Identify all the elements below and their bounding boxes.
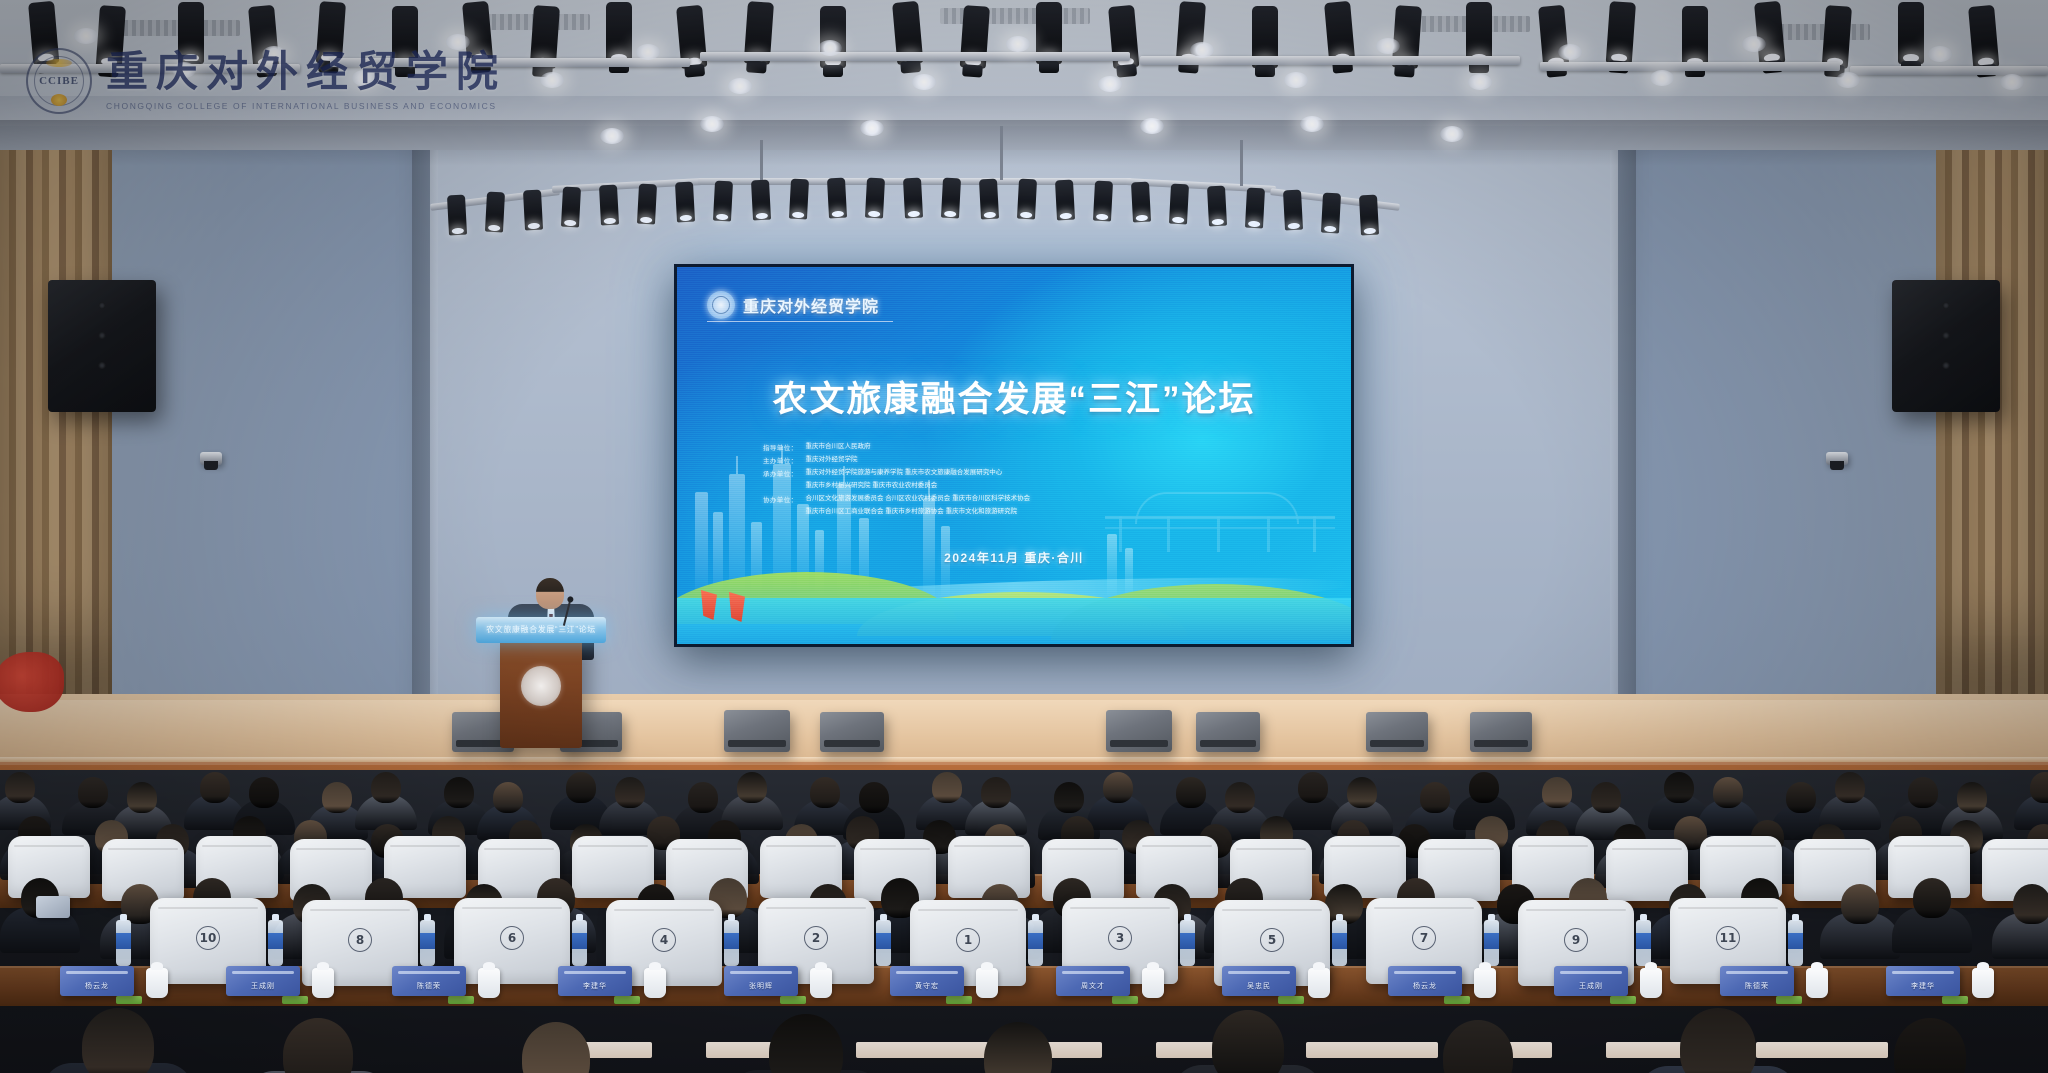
podium-lit-nameplate: 农文旅康融合发展“三江”论坛 <box>476 617 606 643</box>
audience-phone-screen <box>36 896 70 918</box>
water-bottle-icon <box>1636 920 1651 966</box>
audience-person-head <box>1443 1020 1513 1073</box>
audience-person-head <box>493 782 523 813</box>
stage-light-icon <box>637 184 657 225</box>
stage-light-icon <box>1207 186 1227 227</box>
stage-light-icon <box>1055 180 1075 221</box>
audience-person-head <box>1894 1018 1966 1073</box>
water-bottle-icon <box>876 920 891 966</box>
stage-light-icon <box>1321 193 1341 234</box>
speaker-driver <box>1943 362 1950 369</box>
chair-seam <box>1424 848 1495 850</box>
tea-cup-icon <box>644 968 666 998</box>
audience-person-head <box>769 1014 843 1073</box>
curtain-right <box>1936 150 2048 695</box>
name-placard-icon: 吴忠民 <box>1222 966 1296 996</box>
chair-number-badge: 2 <box>804 926 828 950</box>
audience-person-head <box>1713 777 1743 808</box>
stage-monitor-speaker <box>1366 712 1428 752</box>
audience-person-head <box>1103 772 1133 803</box>
bottle-label <box>572 933 587 949</box>
audience-person-head <box>78 777 108 808</box>
downlight-icon <box>1300 116 1324 132</box>
placard-name-text: 杨云龙 <box>60 981 134 991</box>
stage-light-lamp <box>564 220 576 227</box>
placard-name-text: 李建华 <box>558 981 632 991</box>
downlight-icon <box>1558 44 1582 60</box>
downlight-icon <box>1006 36 1030 52</box>
chair-seam <box>766 907 866 909</box>
chair-seam <box>1526 909 1626 911</box>
led-presentation-screen: 重庆对外经贸学院 农文旅康融合发展“三江”论坛 指导单位：重庆市合川区人民政府主… <box>674 264 1354 647</box>
tea-cup-icon <box>1806 968 1828 998</box>
downlight-icon <box>636 44 660 60</box>
bottle-label <box>1636 933 1651 949</box>
stage-light-icon <box>1017 179 1037 220</box>
bottle-label <box>268 933 283 949</box>
chair-seam <box>672 848 743 850</box>
speaker-person-head <box>536 578 564 609</box>
stage-light-lamp <box>908 211 920 218</box>
ceiling-shadow <box>0 120 2048 166</box>
placard-header-line <box>232 971 294 974</box>
stage-light-icon <box>865 178 885 219</box>
desk-paper <box>1756 1042 1888 1058</box>
tea-cup-icon <box>1142 968 1164 998</box>
speaker-driver <box>1943 302 1950 309</box>
stage-light-icon <box>827 178 847 219</box>
stage-light-lamp <box>488 225 500 232</box>
downlight-icon <box>1284 72 1308 88</box>
water-bottle-icon <box>724 920 739 966</box>
downlight-icon <box>2000 74 2024 90</box>
chair-seam <box>1518 845 1589 847</box>
stage-light-icon <box>599 185 619 226</box>
downlight-icon <box>700 116 724 132</box>
chair-seam <box>1142 845 1213 847</box>
audience-person-head <box>932 772 962 803</box>
green-desk-item <box>448 996 474 1004</box>
downlight-icon <box>1190 42 1214 58</box>
audience-person-head <box>1420 782 1450 813</box>
stage-light-icon <box>903 178 923 219</box>
stage-light-icon <box>1754 1 1785 65</box>
stage-light-icon <box>1466 2 1492 64</box>
stage-light-lamp <box>1060 213 1072 220</box>
chair-seam <box>614 909 714 911</box>
name-placard-icon: 李建华 <box>1886 966 1960 996</box>
bottle-label <box>116 933 131 949</box>
downlight-icon <box>728 78 752 94</box>
chair-seam <box>954 845 1025 847</box>
green-desk-item <box>1942 996 1968 1004</box>
chair-seam <box>1222 909 1322 911</box>
audience-person-head <box>1054 782 1084 813</box>
audience-person-head <box>82 1008 154 1073</box>
stage-light-lamp <box>452 228 464 235</box>
placard-header-line <box>1560 971 1622 974</box>
downlight-icon <box>1140 118 1164 134</box>
chair-number-badge: 9 <box>1564 928 1588 952</box>
chair-number-badge: 3 <box>1108 926 1132 950</box>
watermark-text-block: 重庆对外经贸学院 CHONGQING COLLEGE OF INTERNATIO… <box>106 52 506 111</box>
seal-top-ornament <box>46 59 72 67</box>
chair-seam <box>202 845 273 847</box>
led-scanline-overlay <box>677 267 1351 644</box>
stage-light-icon <box>1283 190 1303 231</box>
stage-light-lamp <box>680 215 692 222</box>
audience-person-head <box>1957 782 1987 813</box>
downlight-icon <box>1742 36 1766 52</box>
truss-bar <box>1540 62 1840 71</box>
audience-person-head <box>984 1022 1052 1073</box>
downlight-icon <box>74 28 98 44</box>
broadcast-watermark: CCIBE 重庆对外经贸学院 CHONGQING COLLEGE OF INTE… <box>26 48 506 114</box>
chair-seam <box>296 848 367 850</box>
tea-cup-icon <box>146 968 168 998</box>
placard-header-line <box>896 971 958 974</box>
stage-light-icon <box>1898 2 1924 64</box>
audience-person-head <box>688 782 718 813</box>
placard-header-line <box>730 971 792 974</box>
wall-camera-left <box>200 452 222 465</box>
tea-cup-icon <box>478 968 500 998</box>
chair-number-badge: 5 <box>1260 928 1284 952</box>
audience-person-head <box>5 772 35 803</box>
placard-name-text: 吴忠民 <box>1222 981 1296 991</box>
stage-light-icon <box>713 181 733 222</box>
name-placard-icon: 王成刚 <box>226 966 300 996</box>
name-placard-icon: 王成刚 <box>1554 966 1628 996</box>
truss-hanger <box>1000 126 1003 180</box>
audience-person-head <box>200 772 230 803</box>
stage-light-icon <box>1245 188 1265 229</box>
downlight-icon <box>912 74 936 90</box>
water-bottle-icon <box>420 920 435 966</box>
name-placard-icon: 杨云龙 <box>60 966 134 996</box>
green-desk-item <box>1112 996 1138 1004</box>
water-bottle-icon <box>1180 920 1195 966</box>
green-desk-item <box>1444 996 1470 1004</box>
chair-seam <box>1330 845 1401 847</box>
chair-seam <box>1236 848 1307 850</box>
placard-name-text: 陈德荣 <box>1720 981 1794 991</box>
audience-area: 1086421357911杨云龙王成刚陈德荣李建华张明辉黄守宏周文才吴忠民杨云龙… <box>0 770 2048 1073</box>
green-desk-item <box>946 996 972 1004</box>
downlight-icon <box>1098 76 1122 92</box>
audience-person-head <box>322 782 352 813</box>
tea-cup-icon <box>810 968 832 998</box>
stage-light-lamp <box>604 218 616 225</box>
stage-light-lamp <box>1248 221 1260 228</box>
name-placard-icon: 陈德荣 <box>392 966 466 996</box>
chair-seam <box>158 907 258 909</box>
stage-light-icon <box>1359 195 1379 236</box>
placard-header-line <box>1726 971 1788 974</box>
tea-cup-icon <box>1474 968 1496 998</box>
chair-seam <box>918 909 1018 911</box>
bottle-label <box>1484 933 1499 949</box>
podium <box>500 636 582 748</box>
audience-person-head <box>1469 772 1499 803</box>
chair-seam <box>390 845 461 847</box>
wall-bevel-right <box>1610 150 1636 760</box>
audience-person-head <box>1347 777 1377 808</box>
bottle-label <box>876 933 891 949</box>
name-placard-icon: 周文才 <box>1056 966 1130 996</box>
audience-person-head <box>1664 772 1694 803</box>
speaker-driver <box>99 302 106 309</box>
stage-light-lamp <box>1172 217 1184 224</box>
stage-light-lamp <box>868 211 880 218</box>
green-desk-item <box>614 996 640 1004</box>
green-desk-item <box>282 996 308 1004</box>
green-desk-item <box>116 996 142 1004</box>
stage-light-lamp <box>1020 212 1032 219</box>
audience-person-head <box>1786 782 1816 813</box>
stage-light-lamp <box>716 214 728 221</box>
audience-person-head <box>1176 777 1206 808</box>
downlight-icon <box>540 72 564 88</box>
desk-paper <box>1306 1042 1438 1058</box>
green-desk-item <box>780 996 806 1004</box>
stage-light-lamp <box>832 211 844 218</box>
wall-speaker-right <box>1892 280 2000 412</box>
water-bottle-icon <box>1484 920 1499 966</box>
stage-light-icon <box>789 179 809 220</box>
name-placard-icon: 黄守宏 <box>890 966 964 996</box>
stage-light-icon <box>1822 5 1852 69</box>
watermark-institution-cn: 重庆对外经贸学院 <box>106 52 506 94</box>
audience-person-head <box>127 782 157 813</box>
stage-light-icon <box>447 195 467 236</box>
audience-person-head <box>1591 782 1621 813</box>
tea-cup-icon <box>1972 968 1994 998</box>
audience-person-head <box>1542 777 1572 808</box>
chair-seam <box>462 907 562 909</box>
stage-monitor-speaker <box>724 710 790 752</box>
chair-seam <box>1800 848 1871 850</box>
stage-light-icon <box>979 179 999 220</box>
stage-light-lamp <box>756 213 768 220</box>
placard-name-text: 周文才 <box>1056 981 1130 991</box>
bottle-label <box>724 933 739 949</box>
chair-seam <box>1706 845 1777 847</box>
chair-seam <box>1612 848 1683 850</box>
speaker-driver <box>99 362 106 369</box>
stage-light-lamp <box>1288 223 1300 230</box>
stage-light-icon <box>523 190 543 231</box>
stage-monitor-speaker <box>1106 710 1172 752</box>
water-bottle-icon <box>1788 920 1803 966</box>
audience-person-head <box>1298 772 1328 803</box>
chair-seam <box>1988 848 2048 850</box>
seal-abbreviation: CCIBE <box>28 75 90 87</box>
chair-seam <box>14 845 85 847</box>
audience-chair[interactable] <box>572 836 654 898</box>
truss-bar <box>700 52 1130 61</box>
green-desk-item <box>1278 996 1304 1004</box>
water-bottle-icon <box>572 920 587 966</box>
placard-header-line <box>1062 971 1124 974</box>
stage-light-icon <box>1093 181 1113 222</box>
name-placard-icon: 李建华 <box>558 966 632 996</box>
stage-light-lamp <box>984 212 996 219</box>
placard-header-line <box>564 971 626 974</box>
chair-number-badge: 4 <box>652 928 676 952</box>
audience-person-head <box>1913 878 1951 918</box>
placard-name-text: 杨云龙 <box>1388 981 1462 991</box>
audience-person-head <box>444 777 474 808</box>
name-placard-icon: 张明辉 <box>724 966 798 996</box>
tea-cup-icon <box>1308 968 1330 998</box>
stage-light-icon <box>1169 184 1189 225</box>
stage-light-icon <box>1131 182 1151 223</box>
stage-light-lamp <box>640 217 652 224</box>
audience-person-head <box>2030 772 2048 803</box>
downlight-icon <box>818 40 842 56</box>
stage-light-lamp <box>1364 228 1376 235</box>
bottle-label <box>1788 933 1803 949</box>
stage-light-lamp <box>1136 215 1148 222</box>
bottle-label <box>420 933 435 949</box>
downlight-icon <box>860 120 884 136</box>
chair-seam <box>1070 907 1170 909</box>
audience-person-head <box>1908 777 1938 808</box>
chair-seam <box>578 845 649 847</box>
stage-light-icon <box>485 192 505 233</box>
wall-camera-right <box>1826 452 1848 465</box>
ccibe-seal-icon: CCIBE <box>26 48 92 114</box>
desk-paper <box>856 1042 988 1058</box>
water-bottle-icon <box>116 920 131 966</box>
placard-header-line <box>1228 971 1290 974</box>
green-desk-item <box>1610 996 1636 1004</box>
placard-name-text: 李建华 <box>1886 981 1960 991</box>
downlight-icon <box>1468 74 1492 90</box>
wall-speaker-left <box>48 280 156 412</box>
placard-name-text: 张明辉 <box>724 981 798 991</box>
stage-light-lamp <box>792 212 804 219</box>
downlight-icon <box>600 128 624 144</box>
chair-seam <box>766 845 837 847</box>
audience-person-head <box>2013 884 2048 924</box>
tea-cup-icon <box>976 968 998 998</box>
chair-number-badge: 8 <box>348 928 372 952</box>
stage-light-lamp <box>1096 214 1108 221</box>
stage-light-lamp <box>944 211 956 218</box>
audience-chair-numbered[interactable]: 6 <box>454 898 570 984</box>
placard-header-line <box>1394 971 1456 974</box>
placard-name-text: 王成刚 <box>226 981 300 991</box>
downlight-icon <box>1376 38 1400 54</box>
podium-emblem-icon <box>521 666 561 706</box>
name-placard-icon: 陈德荣 <box>1720 966 1794 996</box>
audience-person-head <box>1680 1008 1756 1073</box>
wall-bevel-left <box>412 150 438 760</box>
watermark-institution-en: CHONGQING COLLEGE OF INTERNATIONAL BUSIN… <box>106 101 506 111</box>
audience-person-head <box>810 777 840 808</box>
placard-header-line <box>1892 971 1954 974</box>
audience-person-head <box>981 777 1011 808</box>
conference-hall-scene: 重庆对外经贸学院 农文旅康融合发展“三江”论坛 指导单位：重庆市合川区人民政府主… <box>0 0 2048 1073</box>
chair-number-badge: 11 <box>1716 926 1740 950</box>
green-desk-item <box>1776 996 1802 1004</box>
chair-seam <box>1894 845 1965 847</box>
bottle-label <box>1332 933 1347 949</box>
audience-person-head <box>371 772 401 803</box>
water-bottle-icon <box>1028 920 1043 966</box>
bottle-label <box>1028 933 1043 949</box>
truss-bar <box>1850 66 2048 75</box>
tea-cup-icon <box>312 968 334 998</box>
downlight-icon <box>1836 72 1860 88</box>
audience-person-head <box>249 777 279 808</box>
speaker-driver <box>99 332 106 339</box>
tea-cup-icon <box>1640 968 1662 998</box>
chair-seam <box>1678 907 1778 909</box>
downlight-icon <box>1650 70 1674 86</box>
audience-person-head <box>1212 1010 1284 1073</box>
downlight-icon <box>1440 126 1464 142</box>
chair-seam <box>484 848 555 850</box>
stage-light-icon <box>606 2 632 64</box>
water-bottle-icon <box>1332 920 1347 966</box>
placard-name-text: 陈德荣 <box>392 981 466 991</box>
stage-light-icon <box>561 187 581 228</box>
speaker-driver <box>1943 332 1950 339</box>
stage-light-lamp <box>1324 226 1336 233</box>
stage-monitor-speaker <box>1196 712 1260 752</box>
stage-light-icon <box>1682 6 1708 68</box>
stage-light-icon <box>1606 1 1636 65</box>
chair-seam <box>108 848 179 850</box>
placard-name-text: 黄守宏 <box>890 981 964 991</box>
audience-person-head <box>566 772 596 803</box>
stage-light-icon <box>1968 5 1999 69</box>
chair-number-badge: 6 <box>500 926 524 950</box>
bottle-label <box>1180 933 1195 949</box>
downlight-icon <box>1928 46 1952 62</box>
chair-number-badge: 10 <box>196 926 220 950</box>
chair-number-badge: 1 <box>956 928 980 952</box>
red-foreground-object <box>0 652 64 712</box>
stage-light-lamp <box>528 223 540 230</box>
placard-header-line <box>398 971 460 974</box>
stage-light-icon <box>941 178 961 219</box>
audience-person-head <box>1835 772 1865 803</box>
seal-bottom-ornament <box>51 94 67 106</box>
audience-person-head <box>1841 884 1879 924</box>
stage-light-lamp <box>1212 219 1224 226</box>
name-placard-icon: 杨云龙 <box>1388 966 1462 996</box>
truss-hanger <box>1240 140 1243 186</box>
stage-monitor-speaker <box>820 712 884 752</box>
audience-person-head <box>737 772 767 803</box>
chair-seam <box>860 848 931 850</box>
audience-person-head <box>1225 782 1255 813</box>
audience-person-head <box>615 777 645 808</box>
water-bottle-icon <box>268 920 283 966</box>
curtain-left <box>0 150 112 695</box>
stage-light-icon <box>751 180 771 221</box>
stage-monitor-speaker <box>1470 712 1532 752</box>
stage-light-lamp <box>1903 54 1919 62</box>
chair-seam <box>1048 848 1119 850</box>
audience-person-head <box>283 1018 353 1073</box>
stage-light-icon <box>675 182 695 223</box>
audience-person-head <box>522 1022 590 1073</box>
